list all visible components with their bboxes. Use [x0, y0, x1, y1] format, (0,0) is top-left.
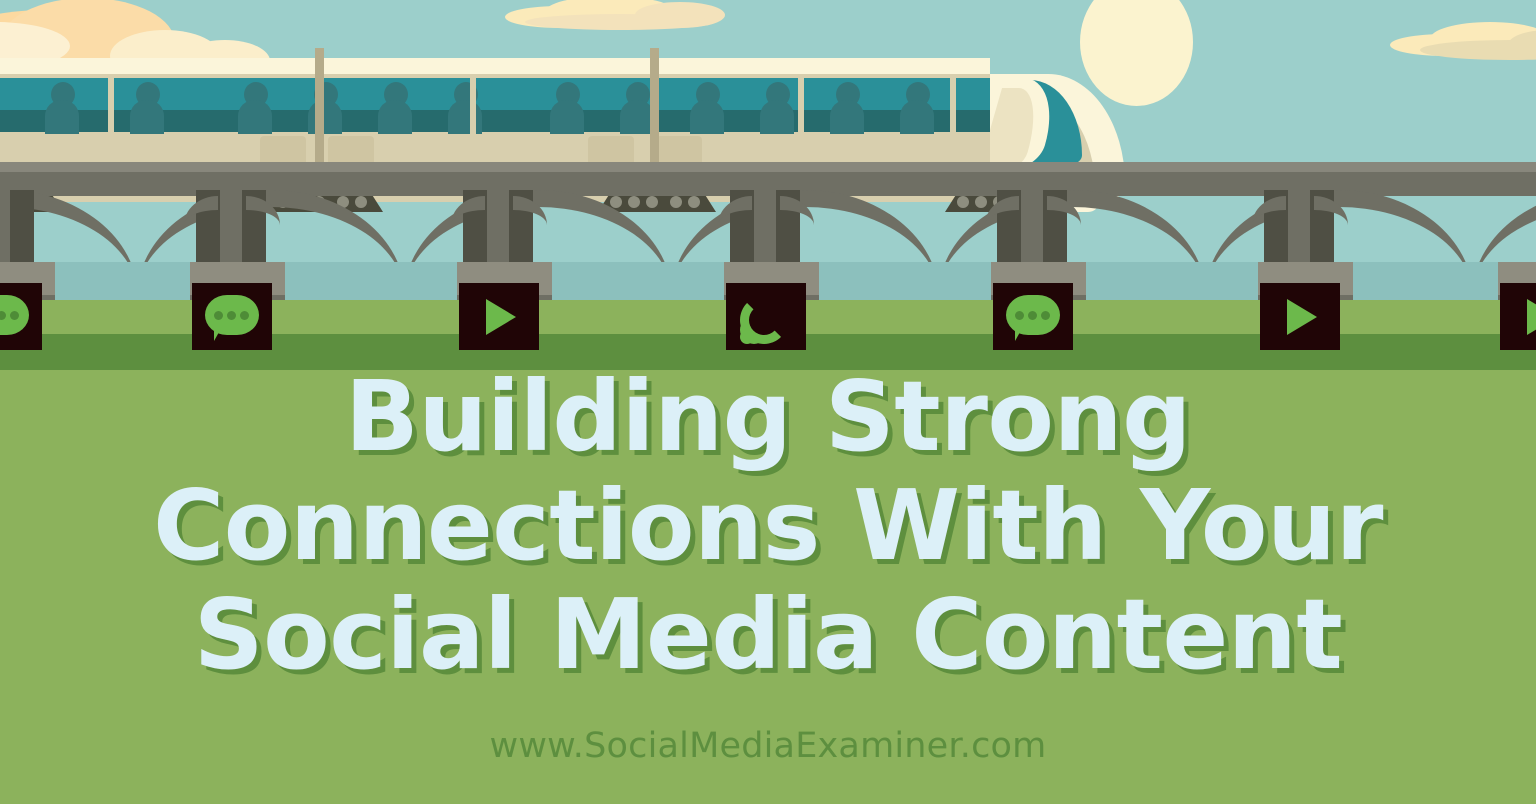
sign-panel-6-partial[interactable] [1500, 283, 1536, 350]
cloud-right [1390, 22, 1536, 70]
chat-bubble-icon [0, 283, 42, 350]
train-illustration [0, 50, 1130, 165]
sign-panel-0-partial[interactable] [0, 283, 42, 350]
sign-panel-4[interactable] [993, 283, 1073, 350]
passenger [690, 82, 724, 132]
cloud-center [505, 0, 725, 32]
website-url: www.SocialMediaExaminer.com [0, 726, 1536, 766]
play-icon [459, 283, 539, 350]
passenger [620, 82, 654, 132]
passenger [900, 82, 934, 132]
poster-canvas: Building Strong Connections With Your So… [0, 0, 1536, 804]
sign-panel-5[interactable] [1260, 283, 1340, 350]
passenger [378, 82, 412, 132]
headline-line-3: Social Media Content [0, 586, 1536, 683]
sign-panel-3[interactable] [726, 283, 806, 350]
passenger [448, 82, 482, 132]
bridge-deck-top [0, 162, 1536, 172]
passenger [45, 82, 79, 132]
sign-panel-1[interactable] [192, 283, 272, 350]
chat-bubble-icon [993, 283, 1073, 350]
headline-line-2: Connections With Your [0, 477, 1536, 574]
play-icon [1500, 283, 1536, 350]
sign-panel-2[interactable] [459, 283, 539, 350]
passenger [760, 82, 794, 132]
play-icon [1260, 283, 1340, 350]
passenger [238, 82, 272, 132]
headline-block: Building Strong Connections With Your So… [0, 368, 1536, 683]
passenger [308, 82, 342, 132]
passenger [830, 82, 864, 132]
rss-icon [726, 283, 806, 350]
passenger [130, 82, 164, 132]
chat-bubble-icon [192, 283, 272, 350]
passenger [550, 82, 584, 132]
headline-line-1: Building Strong [0, 368, 1536, 465]
